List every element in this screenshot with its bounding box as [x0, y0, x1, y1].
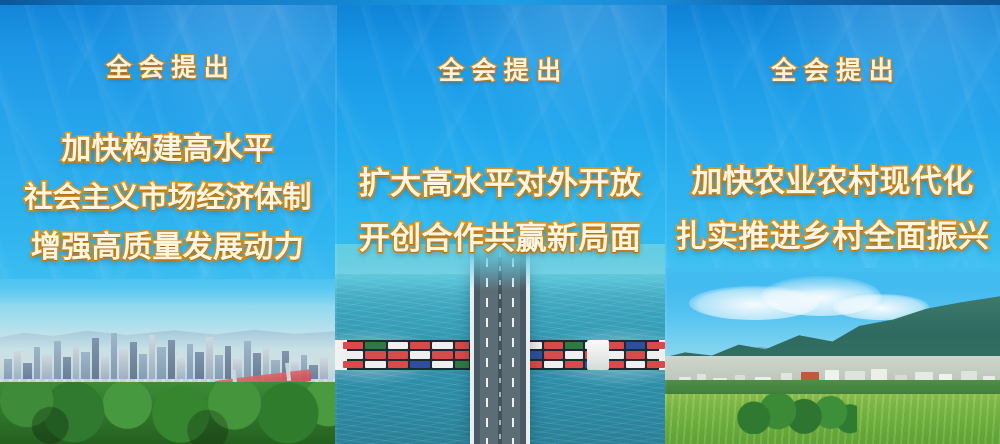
panel-divider: [335, 0, 337, 444]
city-skyline-photo: [0, 279, 335, 444]
tree-grove: [737, 394, 857, 434]
panel-divider: [665, 0, 667, 444]
panel-opening-up: 全会提出 扩大高水平对外开放 开创合作共赢新局面: [335, 0, 665, 444]
ship-bridge-tower: [587, 340, 609, 370]
panel-rural: 全会提出 加快农业农村现代化 扎实推进乡村全面振兴: [665, 0, 1000, 444]
countryside-photo: [665, 268, 1000, 444]
container-stacks: [343, 342, 475, 368]
top-edge-strip: [0, 0, 1000, 5]
foreground-trees: [0, 382, 335, 444]
three-panel-poster: 全会提出 加快构建高水平 社会主义市场经济体制 增强高质量发展动力: [0, 0, 1000, 444]
aerial-bridge-ships-photo: [335, 244, 665, 444]
panel-economy: 全会提出 加快构建高水平 社会主义市场经济体制 增强高质量发展动力: [0, 0, 335, 444]
bridge-top-fade: [335, 244, 665, 290]
